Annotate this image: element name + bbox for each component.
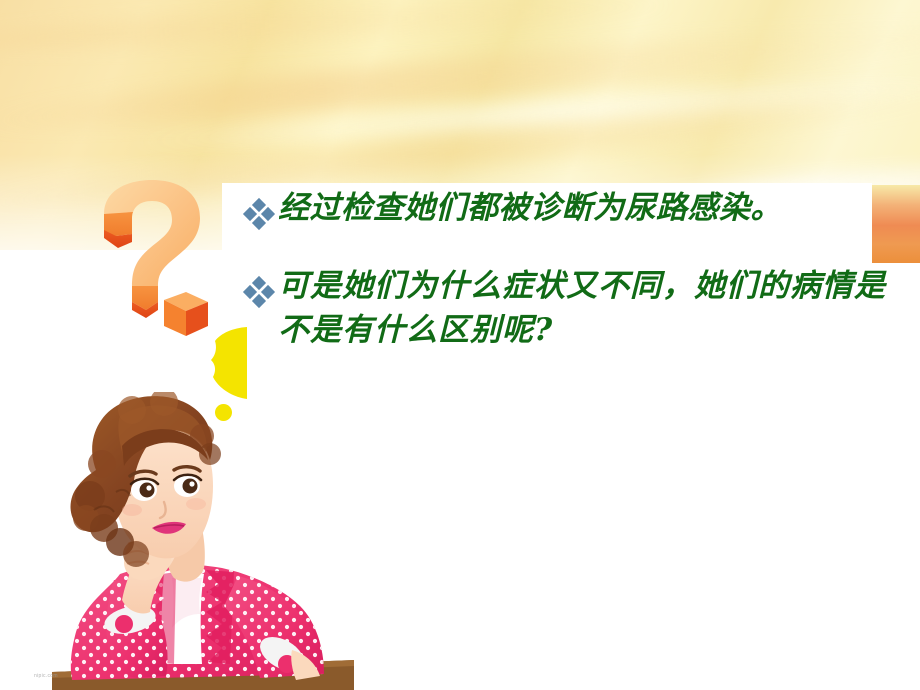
question-mark-3d-icon: [88, 178, 218, 358]
watermark: nipic.com: [34, 673, 58, 679]
bullet-item: 经过检查她们都被诊断为尿路感染。: [244, 186, 904, 230]
slide-canvas: 经过检查她们都被诊断为尿路感染。 可是她们为什么症状又不同，她们的病情是不是有什…: [0, 0, 920, 690]
diamond-cluster-bullet-icon: [244, 278, 274, 308]
bullet-text-1: 经过检查她们都被诊断为尿路感染。: [274, 186, 782, 230]
bullet-list: 经过检查她们都被诊断为尿路感染。 可是她们为什么症状又不同，她们的病情是不是有什…: [244, 186, 904, 386]
bullet-text-2: 可是她们为什么症状又不同，她们的病情是不是有什么区别呢?: [274, 264, 904, 352]
bullet-item: 可是她们为什么症状又不同，她们的病情是不是有什么区别呢?: [244, 264, 904, 352]
diamond-cluster-bullet-icon: [244, 200, 274, 230]
thought-bubble-icon: [203, 327, 249, 399]
thinking-woman-illustration: [24, 392, 354, 690]
